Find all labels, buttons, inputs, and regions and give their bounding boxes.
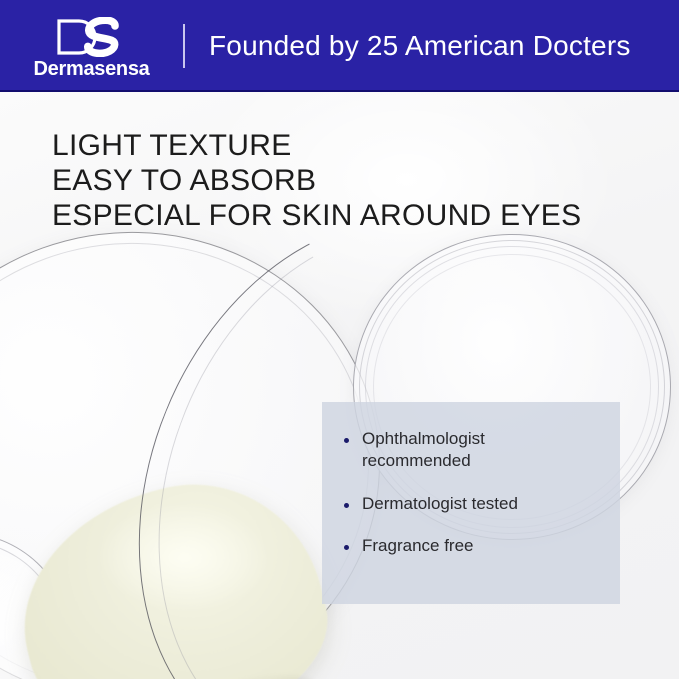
brand-logo[interactable]: Dermasensa [0, 13, 183, 79]
vertical-divider-icon [183, 24, 185, 68]
product-banner-canvas: Dermasensa Founded by 25 American Docter… [0, 0, 679, 679]
benefit-label: Dermatologist tested [362, 493, 518, 515]
bullet-dot-icon [344, 438, 349, 443]
benefit-item-dermatologist: Dermatologist tested [344, 493, 620, 515]
benefit-label: Ophthalmologist recommended [362, 428, 592, 473]
ds-monogram-icon [53, 17, 131, 57]
brand-banner: Dermasensa Founded by 25 American Docter… [0, 0, 679, 92]
headline-line-1: LIGHT TEXTURE [52, 128, 581, 163]
brand-wordmark: Dermasensa [34, 59, 150, 79]
benefits-panel: Ophthalmologist recommended Dermatologis… [322, 402, 620, 604]
headline-block: LIGHT TEXTURE EASY TO ABSORB ESPECIAL FO… [52, 128, 581, 233]
benefit-item-ophthalmologist: Ophthalmologist recommended [344, 428, 620, 473]
benefit-label: Fragrance free [362, 535, 474, 557]
bullet-dot-icon [344, 545, 349, 550]
headline-line-3: ESPECIAL FOR SKIN AROUND EYES [52, 198, 581, 233]
benefit-item-fragrance-free: Fragrance free [344, 535, 620, 557]
headline-line-2: EASY TO ABSORB [52, 163, 581, 198]
bullet-dot-icon [344, 503, 349, 508]
banner-tagline: Founded by 25 American Docters [209, 30, 631, 62]
